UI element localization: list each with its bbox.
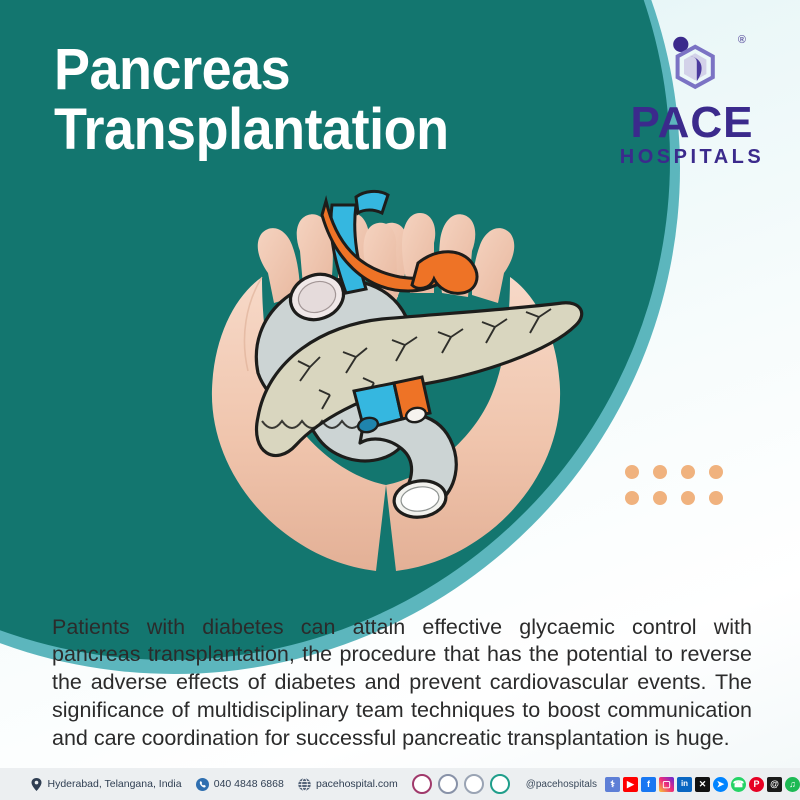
description-paragraph: Patients with diabetes can attain effect…: [52, 614, 752, 754]
logo-wordmark: PACE: [612, 102, 772, 144]
logo-subtitle: HOSPITALS: [612, 144, 772, 170]
decor-dot: [681, 465, 695, 479]
jci-accreditation-badge: [490, 774, 510, 794]
footer-location: Hyderabad, Telangana, India: [31, 778, 181, 791]
location-pin-icon: [31, 778, 42, 791]
footer-phone-text: 040 4848 6868: [214, 778, 284, 790]
decor-dot: [709, 465, 723, 479]
spotify-icon[interactable]: ♫: [785, 777, 800, 792]
decor-dot: [681, 491, 695, 505]
phone-icon: [196, 778, 209, 791]
x-twitter-icon[interactable]: ✕: [695, 777, 710, 792]
poster-canvas: Pancreas Transplantation ® PACE HOSPITAL…: [0, 0, 800, 800]
pinterest-icon[interactable]: P: [749, 777, 764, 792]
decor-dot: [709, 491, 723, 505]
facebook-icon[interactable]: f: [641, 777, 656, 792]
registered-trademark-symbol: ®: [738, 34, 746, 46]
decor-dot: [653, 491, 667, 505]
decor-dot: [653, 465, 667, 479]
youtube-icon[interactable]: ▶: [623, 777, 638, 792]
certification-badges: [412, 774, 510, 794]
practo-icon[interactable]: ⚕: [605, 777, 620, 792]
instagram-icon[interactable]: ▢: [659, 777, 674, 792]
linkedin-icon[interactable]: in: [677, 777, 692, 792]
social-links: ⚕ ▶ f ▢ in ✕ ➤ ☎ P @ ♫: [605, 777, 800, 792]
logo-hexagon-icon: ®: [612, 30, 772, 102]
messenger-icon[interactable]: ➤: [713, 777, 728, 792]
footer-website-text: pacehospital.com: [316, 778, 398, 790]
footer-phone[interactable]: 040 4848 6868: [196, 778, 284, 791]
threads-icon[interactable]: @: [767, 777, 782, 792]
splenic-vein-branch: [356, 191, 388, 213]
social-handle-text: @pacehospitals: [526, 779, 597, 790]
footer-location-text: Hyderabad, Telangana, India: [47, 778, 181, 790]
dot-grid-decoration: [625, 465, 723, 505]
decor-dot: [625, 491, 639, 505]
pace-hospitals-logo[interactable]: ® PACE HOSPITALS: [612, 30, 772, 170]
whatsapp-icon[interactable]: ☎: [731, 777, 746, 792]
page-title-line-2: Transplantation: [54, 100, 538, 160]
page-title-line-1: Pancreas: [54, 40, 538, 100]
hands-holding-pancreas-illustration: [150, 185, 620, 580]
iso-certification-badge: [464, 774, 484, 794]
page-title: Pancreas Transplantation: [54, 40, 538, 161]
footer-bar: Hyderabad, Telangana, India 040 4848 686…: [0, 768, 800, 800]
globe-icon: [298, 778, 311, 791]
nabh-accreditation-badge: [412, 774, 432, 794]
nabl-accreditation-badge: [438, 774, 458, 794]
footer-website[interactable]: pacehospital.com: [298, 778, 398, 791]
decor-dot: [625, 465, 639, 479]
